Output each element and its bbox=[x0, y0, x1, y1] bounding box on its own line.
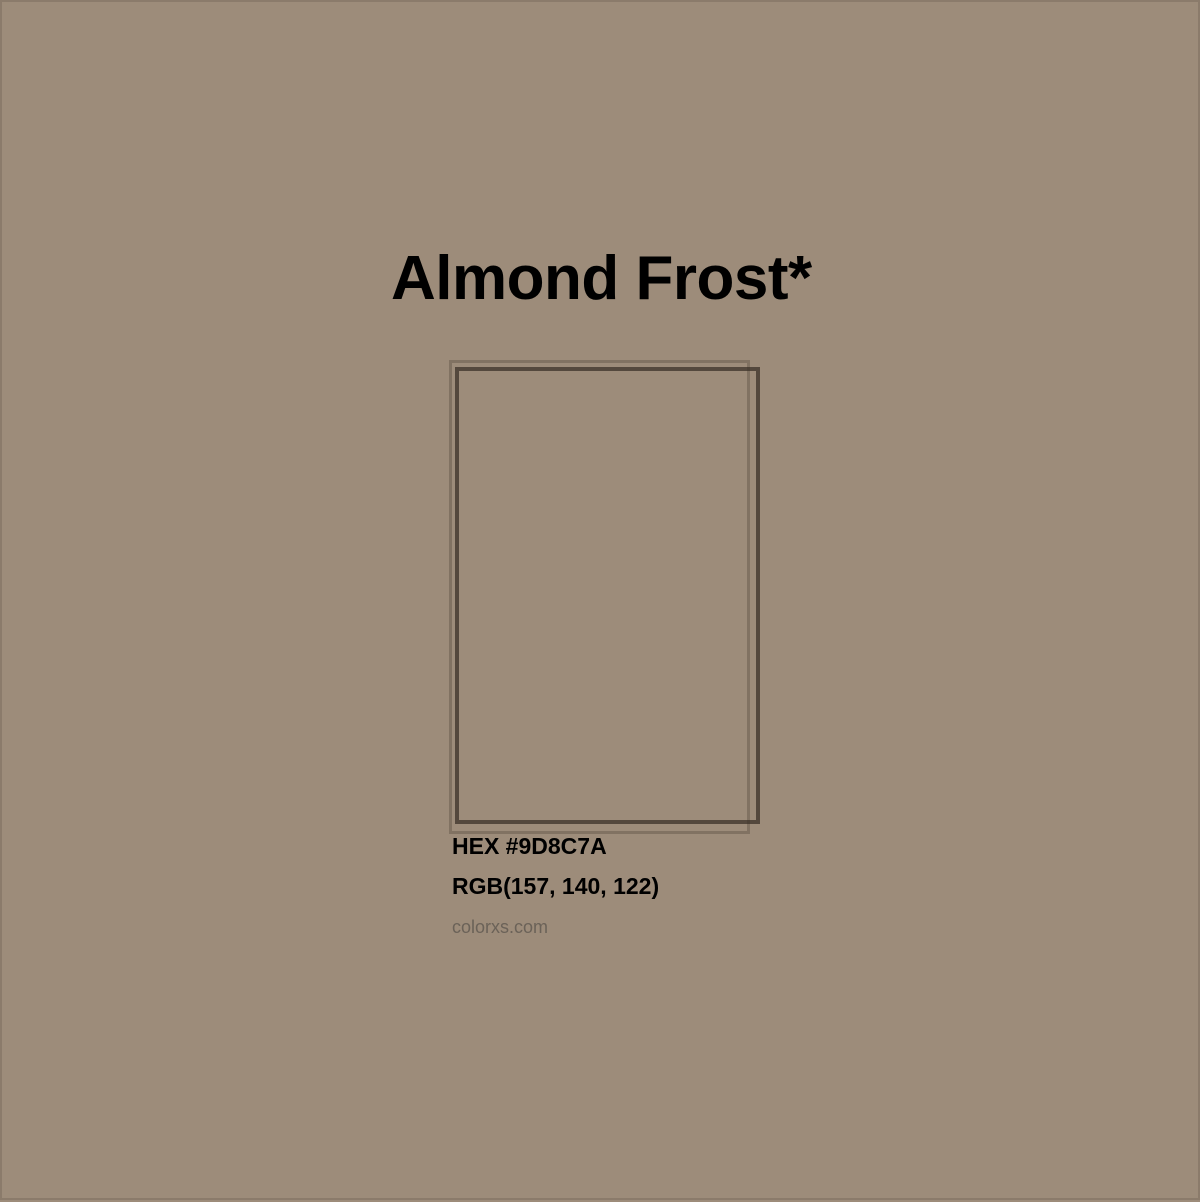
caption-block: HEX #9D8C7A RGB(157, 140, 122) colorxs.c… bbox=[452, 835, 872, 936]
hex-value-label: HEX #9D8C7A bbox=[452, 835, 872, 858]
source-attribution-label: colorxs.com bbox=[452, 918, 872, 936]
swatch-outline-dark bbox=[455, 367, 760, 824]
swatch-outline-light bbox=[449, 360, 750, 834]
color-swatch-page: Almond Frost* HEX #9D8C7A RGB(157, 140, … bbox=[0, 0, 1200, 1200]
rgb-value-label: RGB(157, 140, 122) bbox=[452, 875, 872, 898]
page-title: Almond Frost* bbox=[391, 248, 812, 310]
swatch-area bbox=[2, 2, 1200, 1202]
color-swatch-fill bbox=[459, 371, 756, 820]
